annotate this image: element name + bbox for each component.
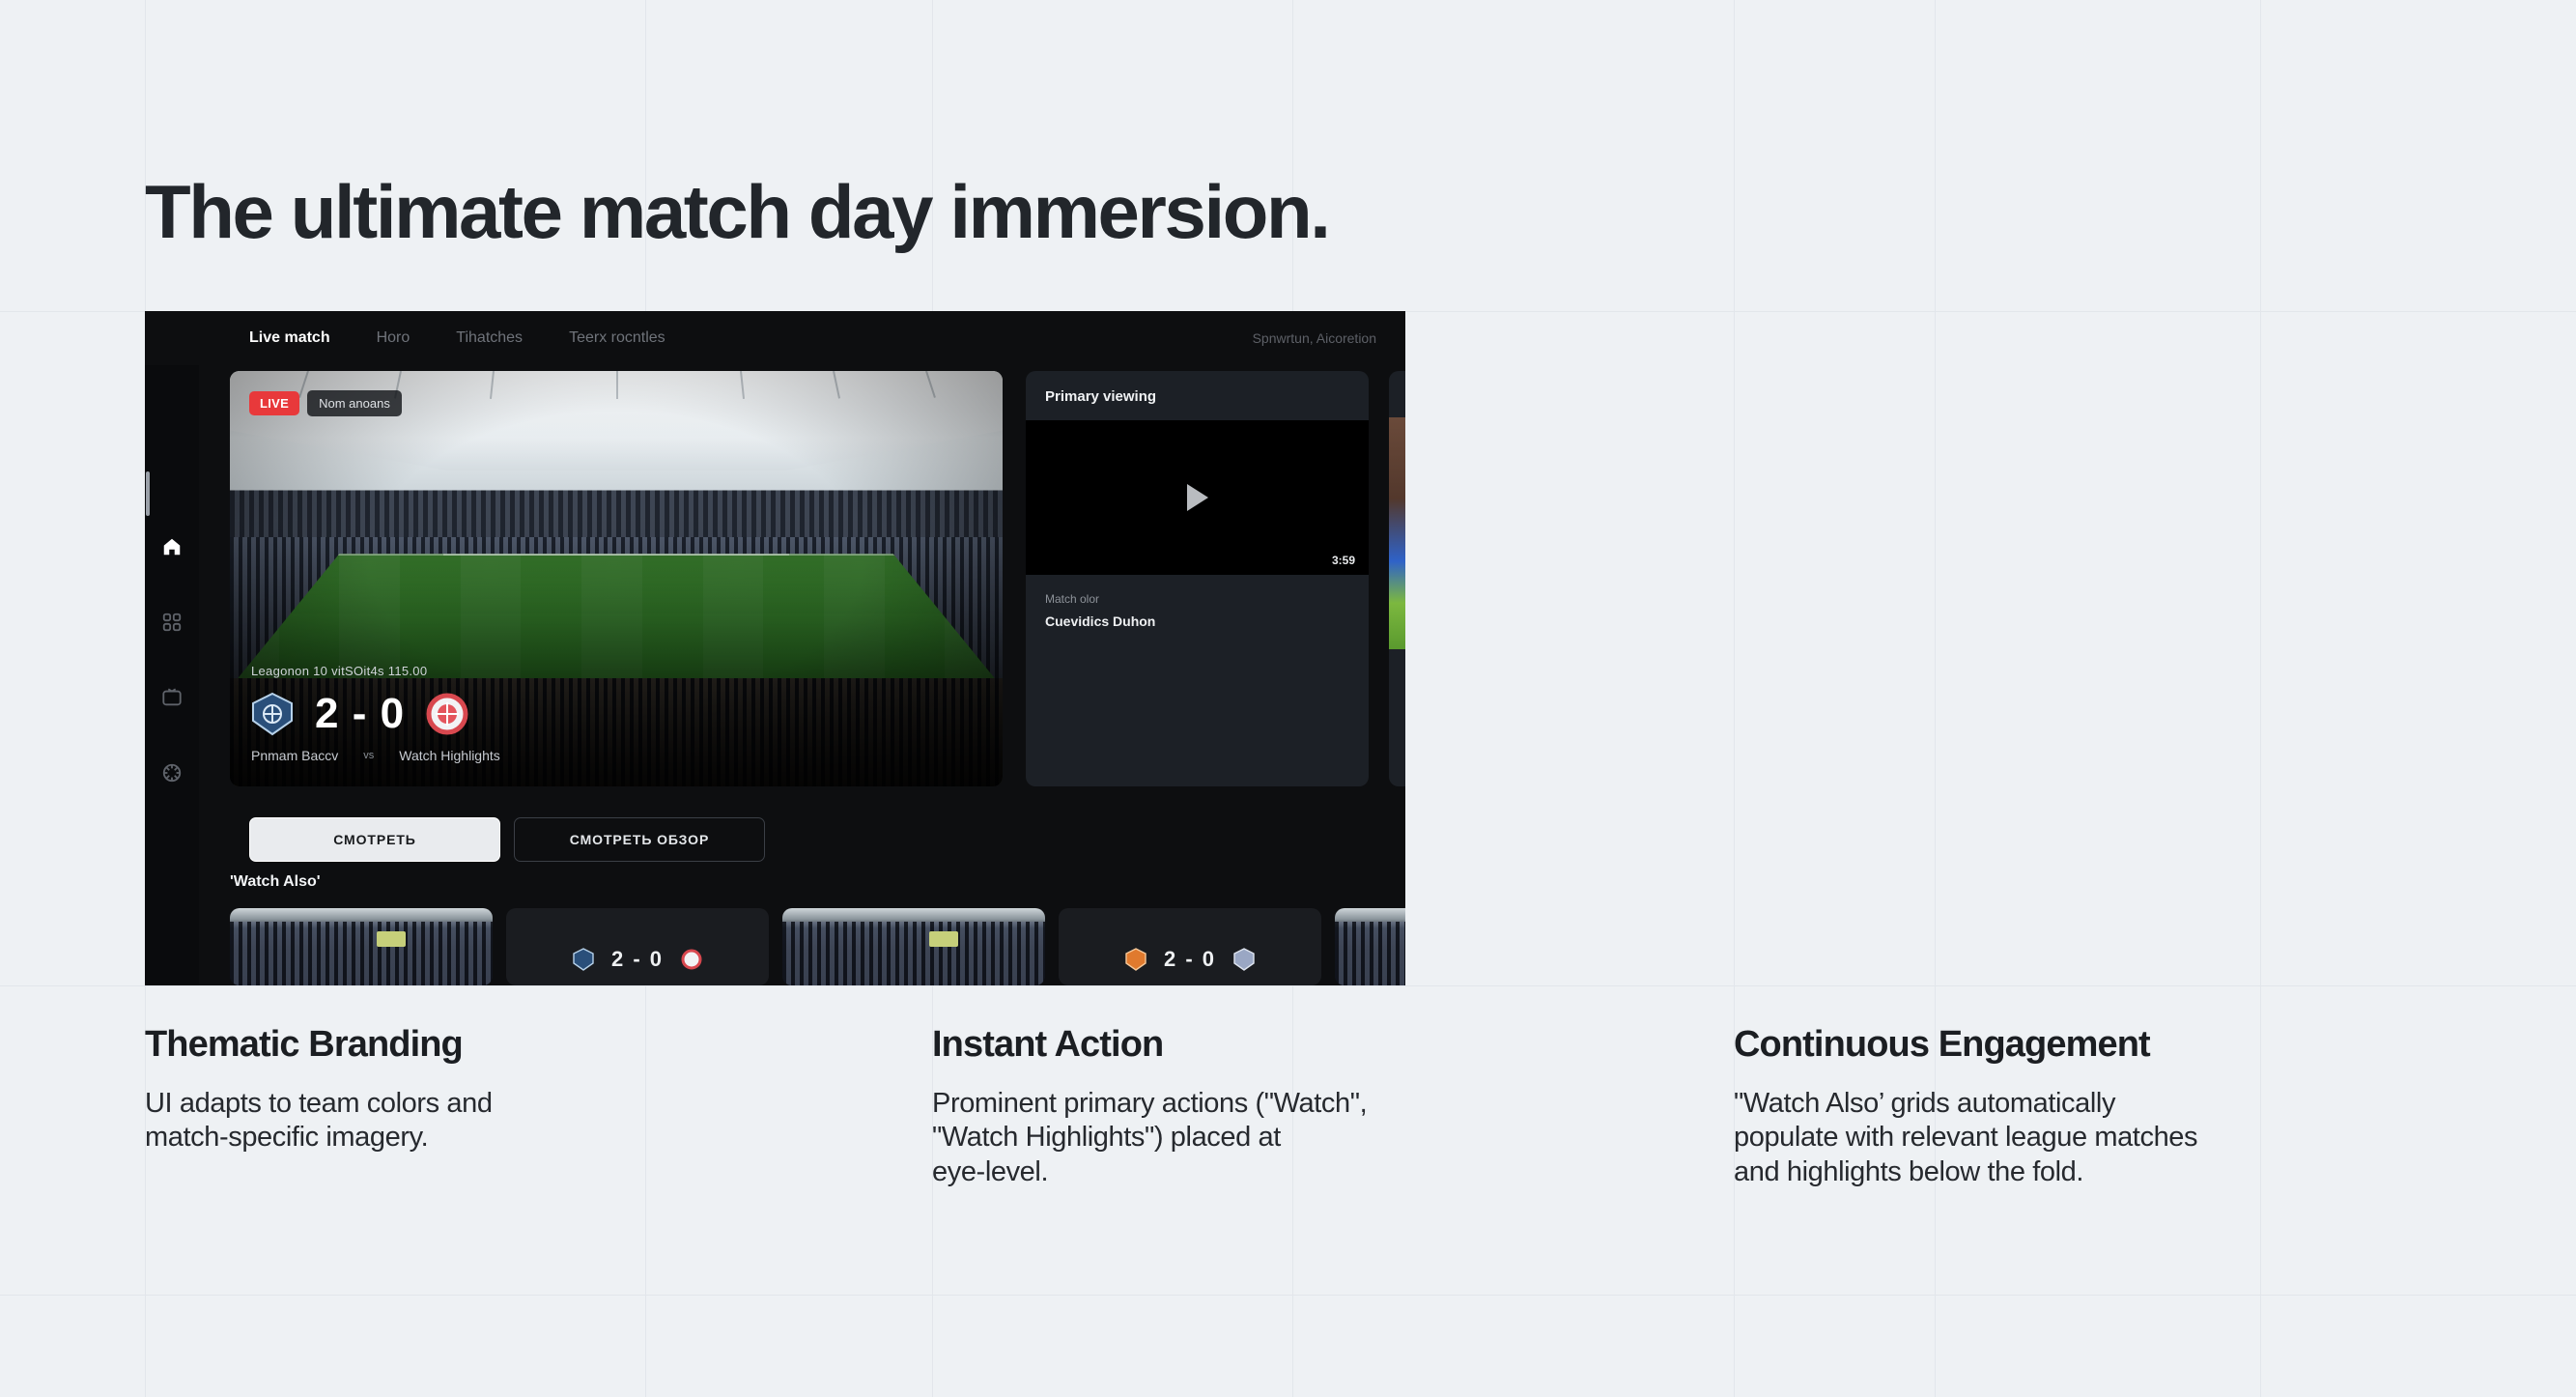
home-team-crest xyxy=(573,948,594,971)
tab-live-match[interactable]: Live match xyxy=(249,329,330,347)
panel-meta-value: Cuevidics Duhon xyxy=(1045,613,1349,629)
home-icon[interactable] xyxy=(159,534,184,559)
panel-meta-label: Match olor xyxy=(1045,592,1349,606)
grid-icon[interactable] xyxy=(159,610,184,635)
circle-sport-icon[interactable] xyxy=(159,760,184,785)
scoreboard: Leagonon 10 vitSOit4s 115.00 2 - 0 xyxy=(251,664,500,763)
play-icon[interactable] xyxy=(1187,484,1208,511)
feature-instant-action: Instant Action Prominent primary actions… xyxy=(932,1024,1647,1189)
watch-button[interactable]: СМОТРЕТЬ xyxy=(249,817,500,862)
home-team-crest xyxy=(1125,948,1146,971)
secondary-viewing-panel[interactable] xyxy=(1389,371,1405,786)
topbar-right-label[interactable]: Spnwrtun, Aicoretion xyxy=(1253,330,1376,346)
watch-also-card[interactable] xyxy=(1335,908,1405,985)
away-team-name: Watch Highlights xyxy=(399,748,500,763)
away-team-crest xyxy=(1233,948,1255,971)
watch-also-row: 2 - 0 2 - 0 xyxy=(230,908,1405,985)
watch-also-card[interactable] xyxy=(230,908,493,985)
score-value: 2 - 0 xyxy=(315,690,405,738)
feature-title: Thematic Branding xyxy=(145,1024,821,1066)
feature-body: "Watch Also’ grids automatically populat… xyxy=(1734,1087,2506,1189)
tab-teerx-rocntles[interactable]: Teerx rocntles xyxy=(569,329,665,347)
video-player[interactable]: 3:59 xyxy=(1026,420,1369,575)
watch-also-score: 2 - 0 xyxy=(611,947,664,972)
live-badge: LIVE xyxy=(249,391,299,415)
primary-viewing-panel: Primary viewing 3:59 Match olor Cuevidic… xyxy=(1026,371,1369,786)
watch-also-card[interactable]: 2 - 0 xyxy=(506,908,769,985)
page-title: The ultimate match day immersion. xyxy=(145,174,1328,249)
tab-tihatches[interactable]: Tihatches xyxy=(456,329,523,347)
home-team-name: Pnmam Baccv xyxy=(251,748,338,763)
vs-label: vs xyxy=(363,750,374,761)
cta-row: СМОТРЕТЬ СМОТРЕТЬ ОБЗОР xyxy=(249,817,765,862)
grid-hline xyxy=(0,985,2576,986)
panel-meta: Match olor Cuevidics Duhon xyxy=(1026,575,1369,646)
team-names-row: Pnmam Baccv vs Watch Highlights xyxy=(251,748,500,763)
home-team-crest xyxy=(251,692,294,736)
watch-also-title: 'Watch Also' xyxy=(230,873,321,891)
feature-continuous-engagement: Continuous Engagement "Watch Also’ grids… xyxy=(1734,1024,2506,1189)
league-line: Leagonon 10 vitSOit4s 115.00 xyxy=(251,664,500,678)
tv-icon[interactable] xyxy=(159,685,184,710)
grid-hline xyxy=(0,1295,2576,1296)
app-topbar: Live match Horo Tihatches Teerx rocntles… xyxy=(145,311,1405,365)
watch-highlights-button[interactable]: СМОТРЕТЬ ОБЗОР xyxy=(514,817,765,862)
app-mockup: Live match Horo Tihatches Teerx rocntles… xyxy=(145,311,1405,985)
sidebar-rail xyxy=(145,365,199,985)
feature-body: UI adapts to team colors and match-speci… xyxy=(145,1087,821,1155)
away-team-crest xyxy=(681,948,702,971)
secondary-panel-thumbnail xyxy=(1389,417,1405,649)
feature-body: Prominent primary actions ("Watch", "Wat… xyxy=(932,1087,1647,1189)
away-team-crest xyxy=(426,692,468,736)
tab-horo[interactable]: Horo xyxy=(377,329,410,347)
feature-title: Continuous Engagement xyxy=(1734,1024,2506,1066)
feature-title: Instant Action xyxy=(932,1024,1647,1066)
score-row: 2 - 0 xyxy=(251,690,500,738)
video-timestamp: 3:59 xyxy=(1332,554,1355,567)
watch-also-score: 2 - 0 xyxy=(1164,947,1216,972)
live-chip: Nom anoans xyxy=(307,390,402,416)
hero-stadium-image[interactable]: LIVE Nom anoans Leagonon 10 vitSOit4s 11… xyxy=(230,371,1003,786)
live-status-row: LIVE Nom anoans xyxy=(249,390,402,416)
primary-viewing-title: Primary viewing xyxy=(1026,371,1369,420)
feature-thematic-branding: Thematic Branding UI adapts to team colo… xyxy=(145,1024,821,1155)
rail-scrollbar[interactable] xyxy=(146,471,150,516)
watch-also-card[interactable]: 2 - 0 xyxy=(1059,908,1321,985)
watch-also-card[interactable] xyxy=(782,908,1045,985)
